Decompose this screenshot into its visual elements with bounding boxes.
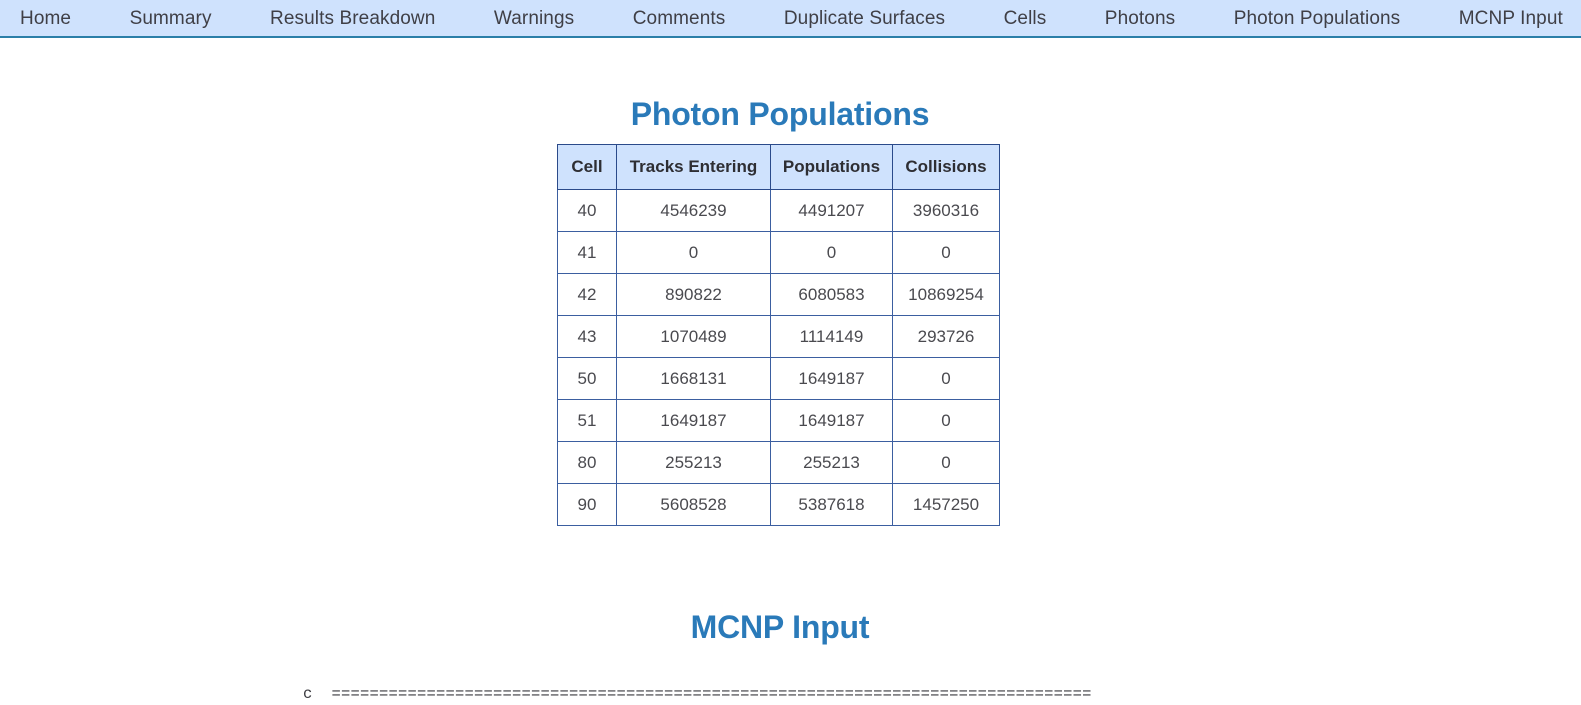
cell-collisions: 10869254 — [893, 274, 1000, 316]
nav-item-home[interactable]: Home — [20, 9, 71, 28]
cell-collisions: 0 — [893, 358, 1000, 400]
table-row: 42 890822 6080583 10869254 — [558, 274, 1000, 316]
cell-populations: 4491207 — [771, 190, 893, 232]
column-header-tracks-entering: Tracks Entering — [617, 145, 771, 190]
cell-id: 51 — [558, 400, 617, 442]
cell-populations: 1649187 — [771, 400, 893, 442]
photon-populations-table-container: Cell Tracks Entering Populations Collisi… — [557, 144, 1000, 526]
column-header-collisions: Collisions — [893, 145, 1000, 190]
cell-populations: 255213 — [771, 442, 893, 484]
table-row: 50 1668131 1649187 0 — [558, 358, 1000, 400]
photon-populations-heading: Photon Populations — [0, 96, 1560, 133]
nav-item-warnings[interactable]: Warnings — [494, 9, 574, 28]
cell-collisions: 293726 — [893, 316, 1000, 358]
table-header: Cell Tracks Entering Populations Collisi… — [558, 145, 1000, 190]
table-row: 40 4546239 4491207 3960316 — [558, 190, 1000, 232]
nav-item-mcnp-input[interactable]: MCNP Input — [1459, 9, 1563, 28]
cell-id: 41 — [558, 232, 617, 274]
table-body: 40 4546239 4491207 3960316 41 0 0 0 42 8… — [558, 190, 1000, 526]
nav-item-duplicate-surfaces[interactable]: Duplicate Surfaces — [784, 9, 945, 28]
cell-populations: 6080583 — [771, 274, 893, 316]
cell-tracks: 4546239 — [617, 190, 771, 232]
mcnp-input-heading: MCNP Input — [0, 609, 1560, 646]
cell-populations: 1649187 — [771, 358, 893, 400]
photon-populations-table: Cell Tracks Entering Populations Collisi… — [557, 144, 1000, 526]
nav-item-photons[interactable]: Photons — [1105, 9, 1175, 28]
table-row: 90 5608528 5387618 1457250 — [558, 484, 1000, 526]
table-row: 51 1649187 1649187 0 — [558, 400, 1000, 442]
page-content: Photon Populations Cell Tracks Entering … — [0, 38, 1581, 685]
cell-id: 40 — [558, 190, 617, 232]
nav-item-results-breakdown[interactable]: Results Breakdown — [270, 9, 435, 28]
column-header-populations: Populations — [771, 145, 893, 190]
table-row: 43 1070489 1114149 293726 — [558, 316, 1000, 358]
cell-collisions: 1457250 — [893, 484, 1000, 526]
cell-tracks: 1070489 — [617, 316, 771, 358]
mcnp-input-text: c ======================================… — [303, 683, 1092, 705]
cell-id: 90 — [558, 484, 617, 526]
top-navigation-bar: Home Summary Results Breakdown Warnings … — [0, 0, 1581, 38]
table-row: 41 0 0 0 — [558, 232, 1000, 274]
cell-populations: 5387618 — [771, 484, 893, 526]
nav-item-summary[interactable]: Summary — [130, 9, 212, 28]
nav-item-cells[interactable]: Cells — [1004, 9, 1047, 28]
cell-id: 43 — [558, 316, 617, 358]
cell-id: 50 — [558, 358, 617, 400]
cell-tracks: 255213 — [617, 442, 771, 484]
cell-populations: 0 — [771, 232, 893, 274]
nav-item-comments[interactable]: Comments — [633, 9, 726, 28]
nav-item-photon-populations[interactable]: Photon Populations — [1234, 9, 1401, 28]
cell-tracks: 1649187 — [617, 400, 771, 442]
table-row: 80 255213 255213 0 — [558, 442, 1000, 484]
cell-collisions: 0 — [893, 442, 1000, 484]
cell-tracks: 0 — [617, 232, 771, 274]
cell-collisions: 0 — [893, 400, 1000, 442]
cell-id: 42 — [558, 274, 617, 316]
column-header-cell: Cell — [558, 145, 617, 190]
cell-tracks: 890822 — [617, 274, 771, 316]
cell-tracks: 1668131 — [617, 358, 771, 400]
cell-collisions: 3960316 — [893, 190, 1000, 232]
cell-collisions: 0 — [893, 232, 1000, 274]
cell-tracks: 5608528 — [617, 484, 771, 526]
table-header-row: Cell Tracks Entering Populations Collisi… — [558, 145, 1000, 190]
cell-id: 80 — [558, 442, 617, 484]
cell-populations: 1114149 — [771, 316, 893, 358]
